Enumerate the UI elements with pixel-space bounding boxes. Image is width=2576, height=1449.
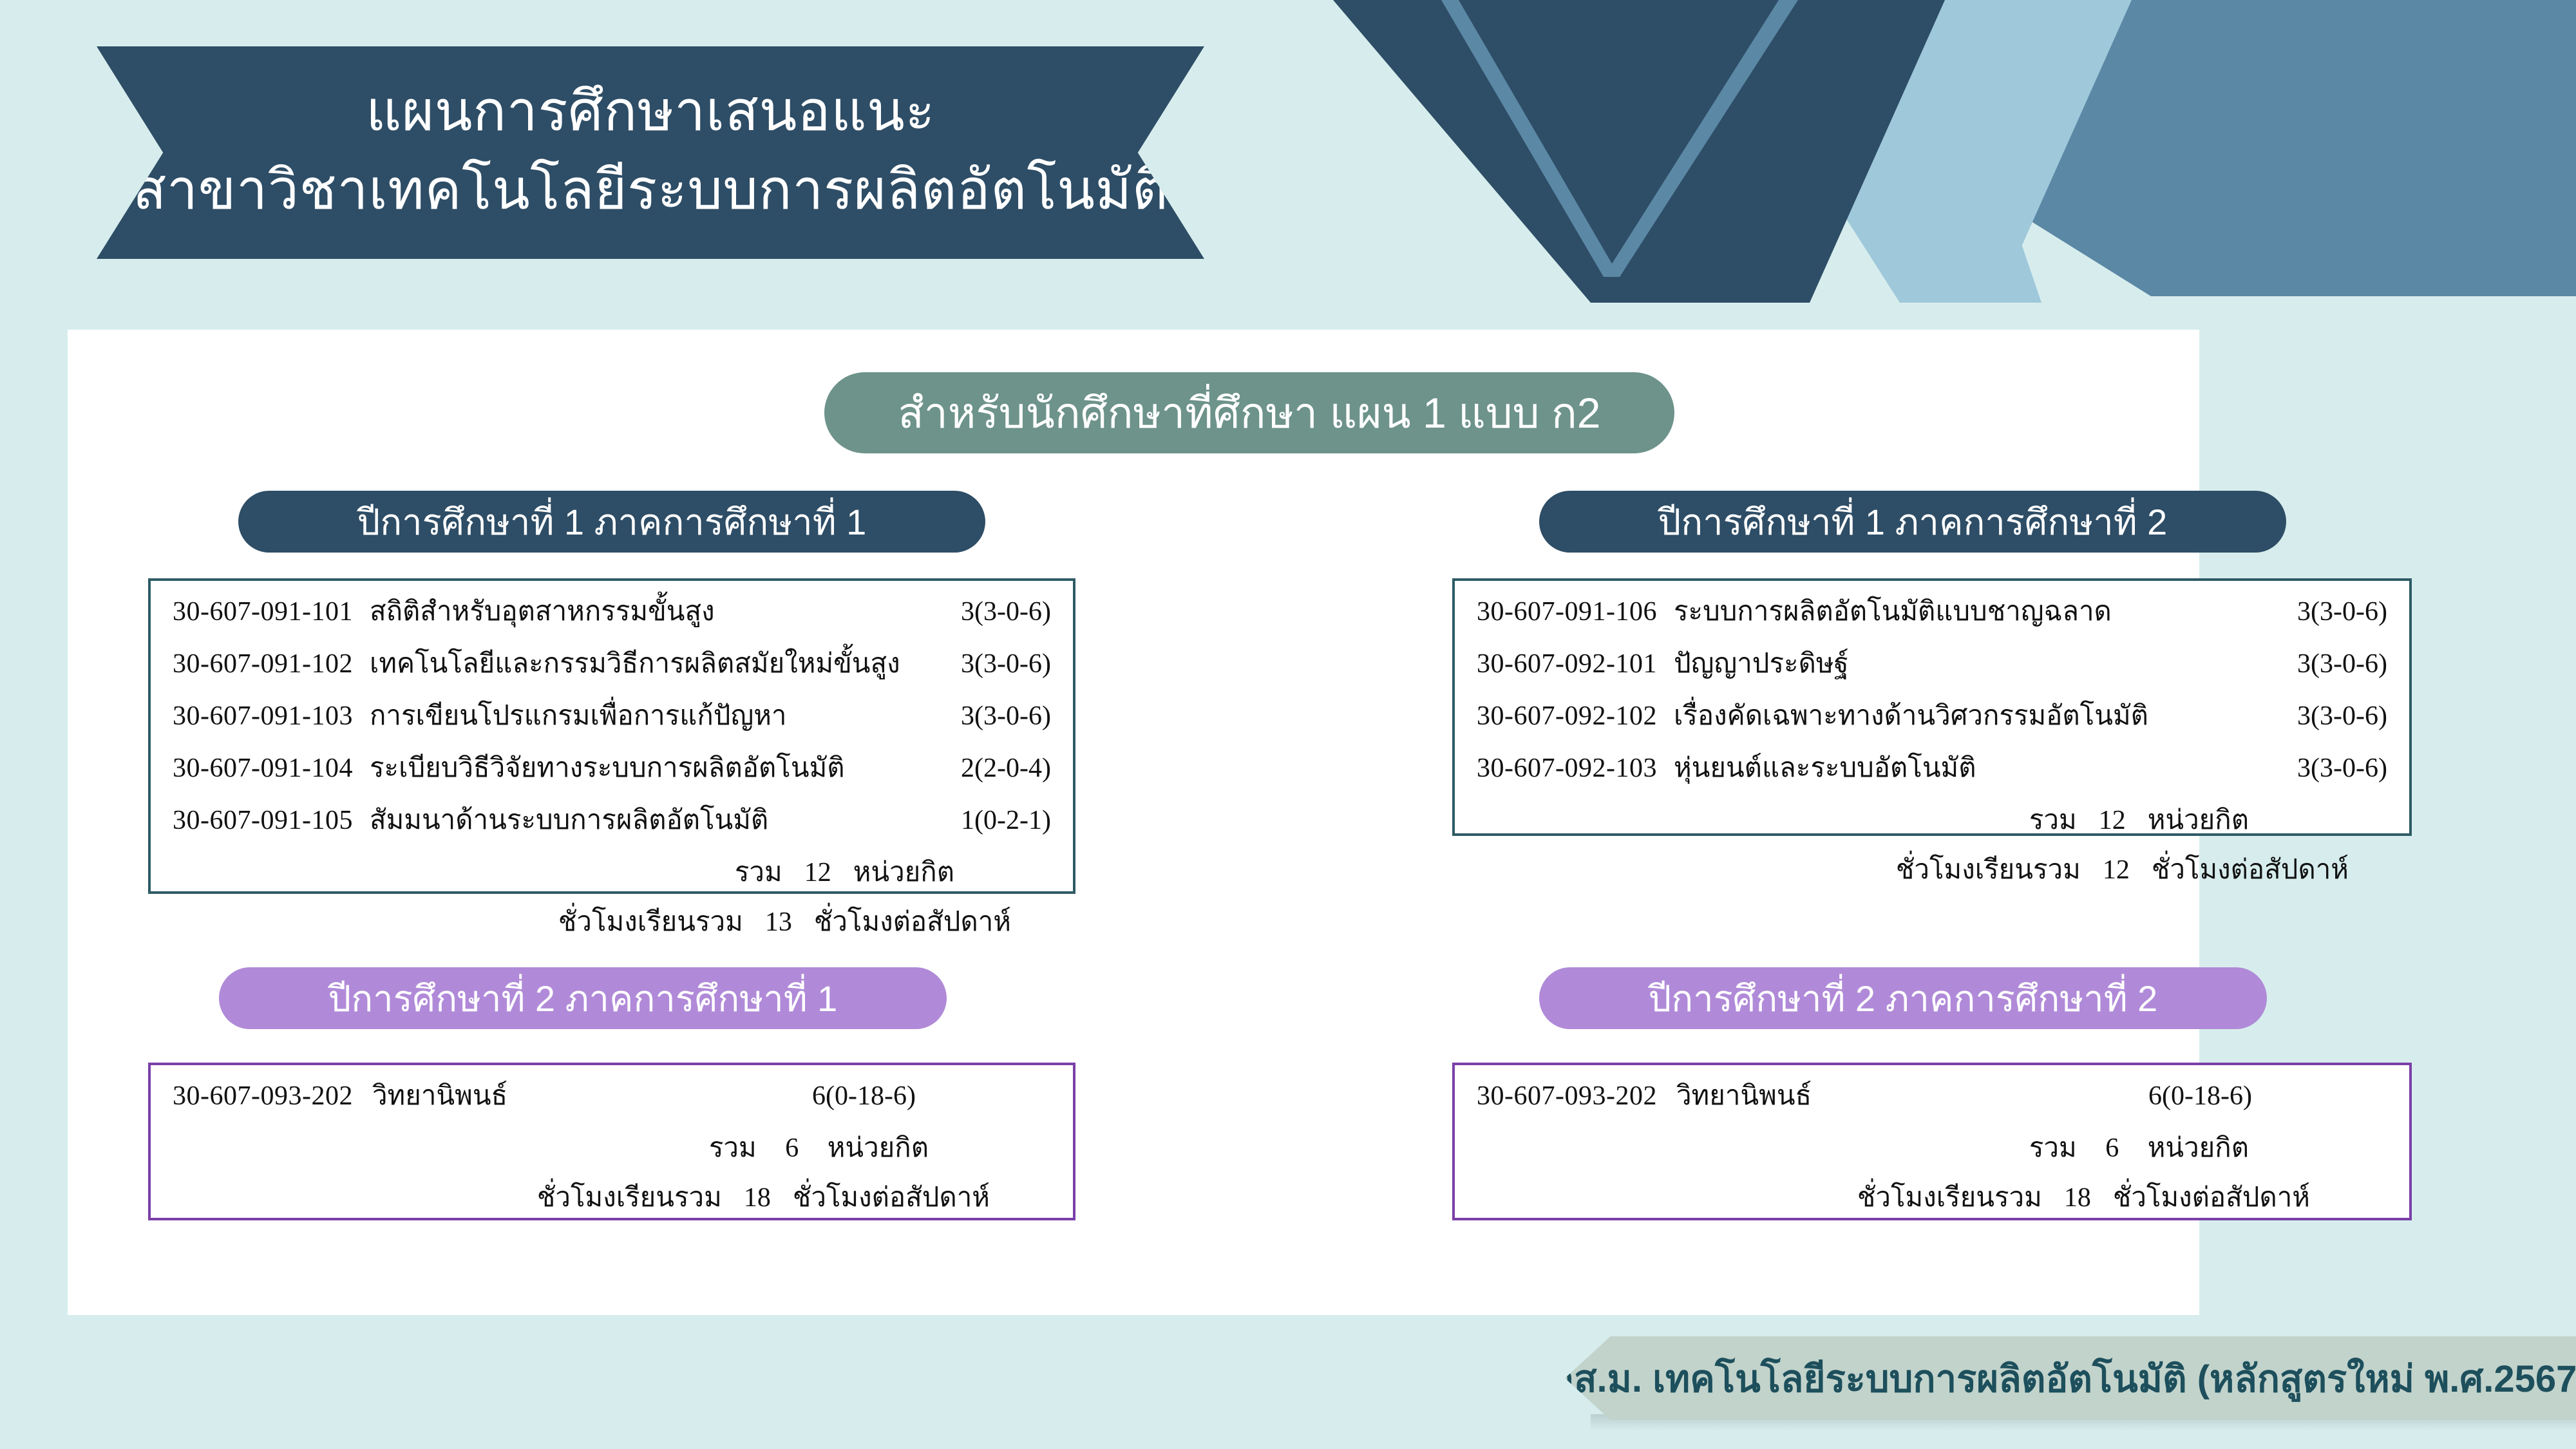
course-credit: 1(0-2-1) — [961, 807, 1051, 834]
summary-unit: หน่วยกิต — [2148, 806, 2249, 833]
course-credit: 2(2-0-4) — [961, 755, 1051, 782]
summary-label: ชั่วโมงเรียนรวม — [173, 1184, 722, 1211]
course-row: 30-607-092-102เรื่องคัดเฉพาะทางด้านวิศวก… — [1477, 702, 2387, 730]
course-credit: 6(0-18-6) — [2148, 1083, 2387, 1110]
course-name: ปัญญาประดิษฐ์ — [1657, 650, 2297, 677]
summary-value: 13 — [743, 909, 814, 936]
footer-banner: อส.ม. เทคโนโลยีระบบการผลิตอัตโนมัติ (หลั… — [1565, 1336, 2576, 1420]
term-heading-label: ปีการศึกษาที่ 2 ภาคการศึกษาที่ 1 — [328, 970, 838, 1027]
plan-banner-label: สำหรับนักศึกษาที่ศึกษา แผน 1 แบบ ก2 — [898, 379, 1601, 447]
term-heading-y1s2: ปีการศึกษาที่ 1 ภาคการศึกษาที่ 2 — [1539, 491, 2286, 553]
course-code: 30-607-092-103 — [1477, 755, 1657, 782]
total-hours-row: ชั่วโมงเรียนรวม18ชั่วโมงต่อสัปดาห์ — [173, 1184, 1051, 1211]
total-credits-row: รวม12หน่วยกิต — [1477, 806, 2387, 834]
course-name: เทคโนโลยีและกรรมวิธีการผลิตสมัยใหม่ขั้นส… — [353, 650, 961, 677]
course-credit: 3(3-0-6) — [2297, 703, 2387, 730]
course-name: การเขียนโปรแกรมเพื่อการแก้ปัญหา — [353, 702, 961, 729]
course-row: 30-607-091-103การเขียนโปรแกรมเพื่อการแก้… — [173, 702, 1051, 730]
summary-unit: หน่วยกิต — [853, 858, 954, 885]
summary-unit: หน่วยกิต — [2148, 1134, 2249, 1161]
summary-value: 12 — [2077, 807, 2148, 834]
summary-value: 18 — [2042, 1184, 2113, 1211]
course-name: วิทยานิพนธ์ — [353, 1082, 812, 1109]
summary-value: 18 — [722, 1184, 793, 1211]
course-row: 30-607-091-102เทคโนโลยีและกรรมวิธีการผลิ… — [173, 650, 1051, 677]
course-credit: 3(3-0-6) — [2297, 755, 2387, 782]
term-heading-label: ปีการศึกษาที่ 1 ภาคการศึกษาที่ 1 — [357, 493, 867, 551]
decorative-corner-graphic — [1294, 0, 2576, 335]
total-hours-row: ชั่วโมงเรียนรวม18ชั่วโมงต่อสัปดาห์ — [1477, 1184, 2387, 1211]
summary-label: รวม — [173, 1134, 757, 1161]
course-name: ระเบียบวิธีวิจัยทางระบบการผลิตอัตโนมัติ — [353, 754, 961, 781]
course-table-y2s1: 30-607-093-202วิทยานิพนธ์6(0-18-6)รวม6หน… — [148, 1063, 1075, 1220]
title-line-1: แผนการศึกษาเสนอแนะ — [366, 72, 935, 151]
course-row: 30-607-093-202วิทยานิพนธ์6(0-18-6) — [173, 1082, 1051, 1110]
course-name: เรื่องคัดเฉพาะทางด้านวิศวกรรมอัตโนมัติ — [1657, 702, 2297, 729]
course-code: 30-607-091-105 — [173, 807, 353, 834]
course-name: สถิติสำหรับอุตสาหกรรมขั้นสูง — [353, 598, 961, 625]
summary-value: 6 — [757, 1135, 828, 1162]
summary-unit: ชั่วโมงต่อสัปดาห์ — [814, 908, 1011, 935]
term-heading-y2s1: ปีการศึกษาที่ 2 ภาคการศึกษาที่ 1 — [219, 967, 947, 1029]
footer-label: อส.ม. เทคโนโลยีระบบการผลิตอัตโนมัติ (หลั… — [1551, 1349, 2576, 1408]
course-row: 30-607-093-202วิทยานิพนธ์6(0-18-6) — [1477, 1082, 2387, 1110]
summary-label: ชั่วโมงเรียนรวม — [1477, 1184, 2042, 1211]
course-code: 30-607-091-102 — [173, 650, 353, 677]
summary-label: รวม — [173, 858, 782, 885]
course-name: ระบบการผลิตอัตโนมัติแบบชาญฉลาด — [1657, 598, 2297, 625]
course-code: 30-607-091-106 — [1477, 598, 1657, 625]
term-heading-y1s1: ปีการศึกษาที่ 1 ภาคการศึกษาที่ 1 — [238, 491, 985, 553]
course-name: วิทยานิพนธ์ — [1657, 1082, 2148, 1109]
course-code: 30-607-092-101 — [1477, 650, 1657, 677]
total-hours-row: ชั่วโมงเรียนรวม13ชั่วโมงต่อสัปดาห์ — [173, 908, 1051, 936]
course-credit: 3(3-0-6) — [961, 598, 1051, 625]
course-row: 30-607-092-101ปัญญาประดิษฐ์3(3-0-6) — [1477, 650, 2387, 677]
term-heading-label: ปีการศึกษาที่ 1 ภาคการศึกษาที่ 2 — [1658, 493, 2168, 551]
summary-label: รวม — [1477, 806, 2077, 833]
summary-value: 12 — [782, 859, 853, 886]
course-row: 30-607-091-105สัมมนาด้านระบบการผลิตอัตโน… — [173, 806, 1051, 834]
course-code: 30-607-093-202 — [173, 1083, 353, 1110]
course-code: 30-607-093-202 — [1477, 1083, 1657, 1110]
course-table-y1s2: 30-607-091-106ระบบการผลิตอัตโนมัติแบบชาญ… — [1452, 578, 2412, 836]
course-credit: 6(0-18-6) — [812, 1083, 1051, 1110]
course-table-y2s2: 30-607-093-202วิทยานิพนธ์6(0-18-6)รวม6หน… — [1452, 1063, 2412, 1220]
summary-label: ชั่วโมงเรียนรวม — [173, 908, 743, 935]
summary-label: รวม — [1477, 1134, 2077, 1161]
course-name: สัมมนาด้านระบบการผลิตอัตโนมัติ — [353, 806, 961, 833]
course-code: 30-607-091-104 — [173, 755, 353, 782]
course-row: 30-607-091-104ระเบียบวิธีวิจัยทางระบบการ… — [173, 754, 1051, 782]
course-row: 30-607-091-106ระบบการผลิตอัตโนมัติแบบชาญ… — [1477, 598, 2387, 625]
course-table-y1s1: 30-607-091-101สถิติสำหรับอุตสาหกรรมขั้นส… — [148, 578, 1075, 894]
course-credit: 3(3-0-6) — [961, 703, 1051, 730]
term-heading-label: ปีการศึกษาที่ 2 ภาคการศึกษาที่ 2 — [1649, 970, 2158, 1027]
summary-value: 6 — [2077, 1135, 2148, 1162]
summary-unit: ชั่วโมงต่อสัปดาห์ — [2113, 1184, 2310, 1211]
total-credits-row: รวม6หน่วยกิต — [173, 1134, 1051, 1162]
title-line-2: สาขาวิชาเทคโนโลยีระบบการผลิตอัตโนมัติ — [133, 151, 1168, 229]
summary-unit: ชั่วโมงต่อสัปดาห์ — [2152, 856, 2349, 883]
title-banner: แผนการศึกษาเสนอแนะ สาขาวิชาเทคโนโลยีระบบ… — [97, 46, 1204, 259]
summary-unit: ชั่วโมงต่อสัปดาห์ — [793, 1184, 990, 1211]
course-row: 30-607-092-103หุ่นยนต์และระบบอัตโนมัติ3(… — [1477, 754, 2387, 782]
summary-label: ชั่วโมงเรียนรวม — [1477, 856, 2081, 883]
course-code: 30-607-091-101 — [173, 598, 353, 625]
course-credit: 3(3-0-6) — [2297, 650, 2387, 677]
summary-unit: หน่วยกิต — [828, 1134, 929, 1161]
summary-value: 12 — [2081, 857, 2152, 884]
course-credit: 3(3-0-6) — [2297, 598, 2387, 625]
total-credits-row: รวม12หน่วยกิต — [173, 858, 1051, 886]
course-name: หุ่นยนต์และระบบอัตโนมัติ — [1657, 754, 2297, 781]
total-hours-row: ชั่วโมงเรียนรวม12ชั่วโมงต่อสัปดาห์ — [1477, 856, 2387, 884]
total-credits-row: รวม6หน่วยกิต — [1477, 1134, 2387, 1162]
course-row: 30-607-091-101สถิติสำหรับอุตสาหกรรมขั้นส… — [173, 598, 1051, 625]
course-code: 30-607-091-103 — [173, 703, 353, 730]
course-code: 30-607-092-102 — [1477, 703, 1657, 730]
plan-banner: สำหรับนักศึกษาที่ศึกษา แผน 1 แบบ ก2 — [824, 372, 1674, 453]
course-credit: 3(3-0-6) — [961, 650, 1051, 677]
term-heading-y2s2: ปีการศึกษาที่ 2 ภาคการศึกษาที่ 2 — [1539, 967, 2267, 1029]
